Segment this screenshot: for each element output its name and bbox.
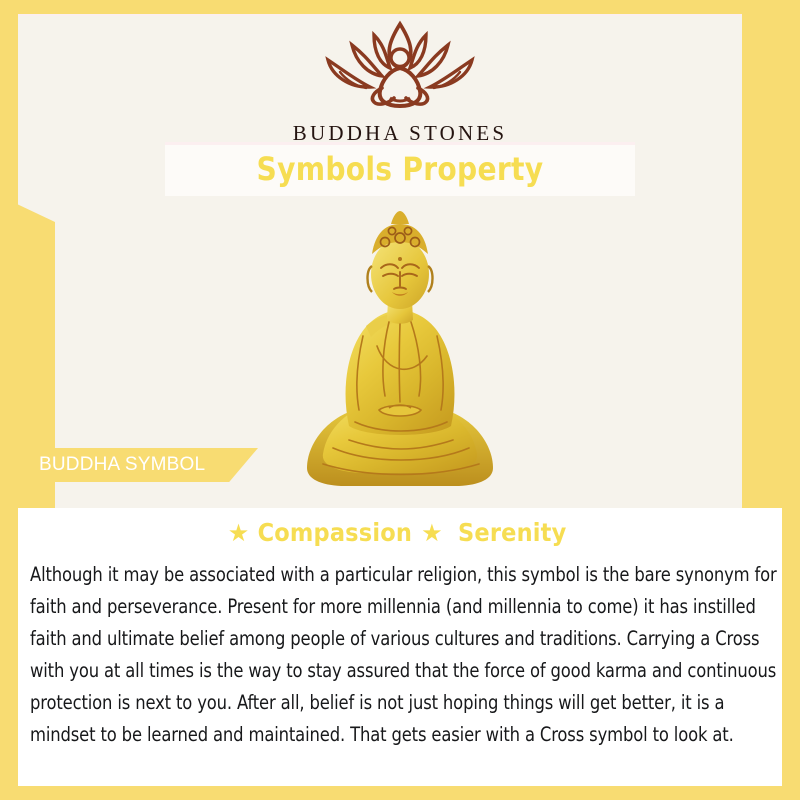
keyword-serenity: Serenity — [458, 518, 566, 547]
page-title: Symbols Property — [257, 150, 544, 188]
title-banner: Symbols Property — [165, 142, 635, 196]
keyword-headline: ★Compassion★ Serenity — [18, 518, 782, 547]
poster-root: BUDDHA STONES Symbols Property — [0, 0, 800, 800]
seated-buddha-statue-icon — [293, 196, 508, 494]
brand-logo-block: BUDDHA STONES — [0, 18, 800, 146]
ribbon-label: BUDDHA SYMBOL — [39, 454, 205, 476]
content-panel: ★Compassion★ Serenity Although it may be… — [18, 508, 782, 786]
star-icon-left: ★ — [228, 519, 250, 547]
lotus-meditation-icon — [312, 18, 488, 114]
description-paragraph: Although it may be associated with a par… — [30, 559, 781, 751]
section-ribbon: BUDDHA SYMBOL — [18, 448, 258, 482]
sheet-hairline-top — [18, 14, 782, 16]
keyword-compassion: Compassion — [258, 518, 412, 547]
star-icon-right: ★ — [421, 519, 443, 547]
